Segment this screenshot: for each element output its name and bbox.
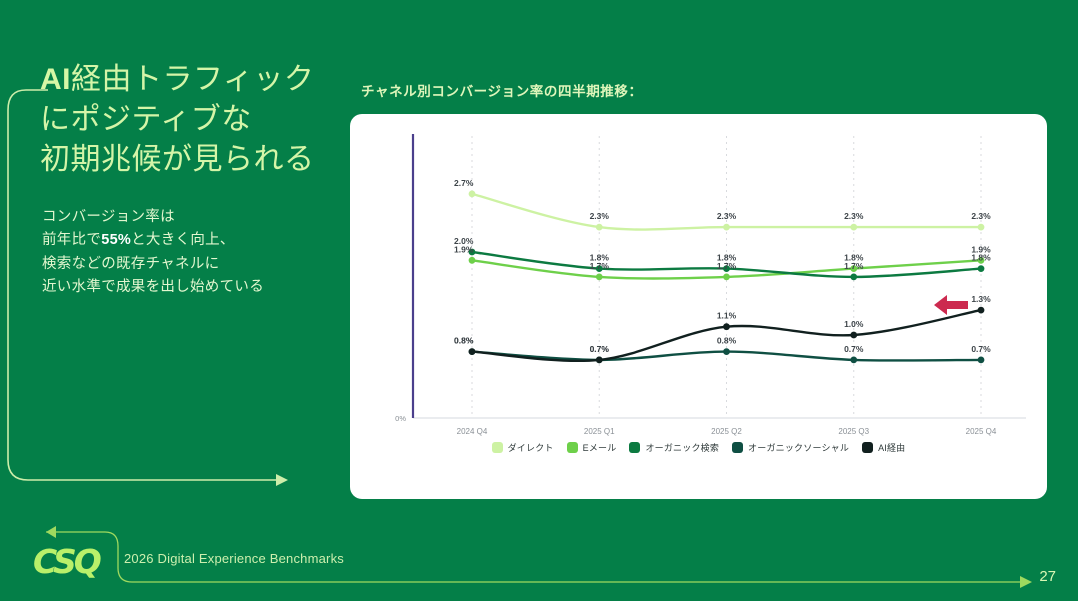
legend-item-label: オーガニックソーシャル xyxy=(748,441,849,454)
svg-text:0%: 0% xyxy=(395,414,406,423)
svg-text:1.8%: 1.8% xyxy=(971,253,991,263)
chart-legend: ダイレクトEメールオーガニック検索オーガニックソーシャルAI経由 xyxy=(350,441,1047,454)
csq-logo: CSQ xyxy=(33,542,99,581)
svg-text:2.3%: 2.3% xyxy=(971,211,991,221)
svg-text:2025 Q4: 2025 Q4 xyxy=(966,427,997,436)
chart-title: チャネル別コンバージョン率の四半期推移： xyxy=(361,80,643,100)
subcopy: コンバージョン率は 前年比で55%と大きく向上、 検索などの既存チャネルに 近い… xyxy=(42,206,342,300)
legend-swatch-icon xyxy=(862,442,873,453)
legend-item-label: Eメール xyxy=(583,441,617,454)
subcopy-line3: 検索などの既存チャネルに xyxy=(42,256,219,272)
subcopy-line4: 近い水準で成果を出し始めている xyxy=(42,279,264,295)
legend-swatch-icon xyxy=(629,442,640,453)
svg-text:2025 Q1: 2025 Q1 xyxy=(584,427,615,436)
subcopy-line1: コンバージョン率は xyxy=(42,209,175,225)
subcopy-highlight: 55% xyxy=(101,232,131,248)
legend-swatch-icon xyxy=(732,442,743,453)
svg-text:0.8%: 0.8% xyxy=(717,336,737,346)
legend-item-5[interactable]: AI経由 xyxy=(862,441,905,454)
svg-text:0.7%: 0.7% xyxy=(844,344,864,354)
slide-root: AI経由トラフィック にポジティブな 初期兆候が見られる コンバージョン率は 前… xyxy=(0,0,1078,601)
legend-item-3[interactable]: オーガニック検索 xyxy=(629,441,719,454)
legend-item-4[interactable]: オーガニックソーシャル xyxy=(732,441,849,454)
annotation-arrow-icon xyxy=(930,292,972,318)
svg-text:2025 Q3: 2025 Q3 xyxy=(838,427,869,436)
legend-item-label: ダイレクト xyxy=(508,441,554,454)
svg-text:0.7%: 0.7% xyxy=(590,344,610,354)
legend-item-1[interactable]: ダイレクト xyxy=(492,441,554,454)
headline-line3: 初期兆候が見られる xyxy=(40,143,315,176)
svg-text:1.8%: 1.8% xyxy=(590,253,610,263)
svg-text:1.8%: 1.8% xyxy=(717,253,737,263)
svg-text:2.7%: 2.7% xyxy=(454,178,474,188)
svg-text:1.0%: 1.0% xyxy=(844,319,864,329)
svg-text:0.7%: 0.7% xyxy=(971,344,991,354)
svg-text:2.3%: 2.3% xyxy=(717,211,737,221)
page-number: 27 xyxy=(1039,568,1056,585)
svg-text:2.0%: 2.0% xyxy=(454,236,474,246)
svg-text:2024 Q4: 2024 Q4 xyxy=(457,427,488,436)
legend-item-2[interactable]: Eメール xyxy=(567,441,617,454)
page-title: AI経由トラフィック にポジティブな 初期兆候が見られる xyxy=(40,60,350,180)
svg-text:2.3%: 2.3% xyxy=(844,211,864,221)
footer-title: 2026 Digital Experience Benchmarks xyxy=(124,551,344,566)
legend-swatch-icon xyxy=(492,442,503,453)
headline-lead: AI xyxy=(40,63,71,96)
legend-swatch-icon xyxy=(567,442,578,453)
legend-item-label: AI経由 xyxy=(878,441,905,454)
svg-text:2025 Q2: 2025 Q2 xyxy=(711,427,742,436)
svg-text:2.3%: 2.3% xyxy=(590,211,610,221)
subcopy-line2-c: と大きく向上、 xyxy=(131,232,235,248)
svg-text:1.3%: 1.3% xyxy=(971,294,991,304)
svg-text:0.8%: 0.8% xyxy=(454,336,474,346)
headline-line2: にポジティブな xyxy=(40,103,252,136)
headline-rest: 経由トラフィック xyxy=(71,63,314,96)
legend-item-label: オーガニック検索 xyxy=(645,441,719,454)
subcopy-line2-a: 前年比で xyxy=(42,232,101,248)
svg-text:1.7%: 1.7% xyxy=(844,261,864,271)
svg-text:1.1%: 1.1% xyxy=(717,311,737,321)
